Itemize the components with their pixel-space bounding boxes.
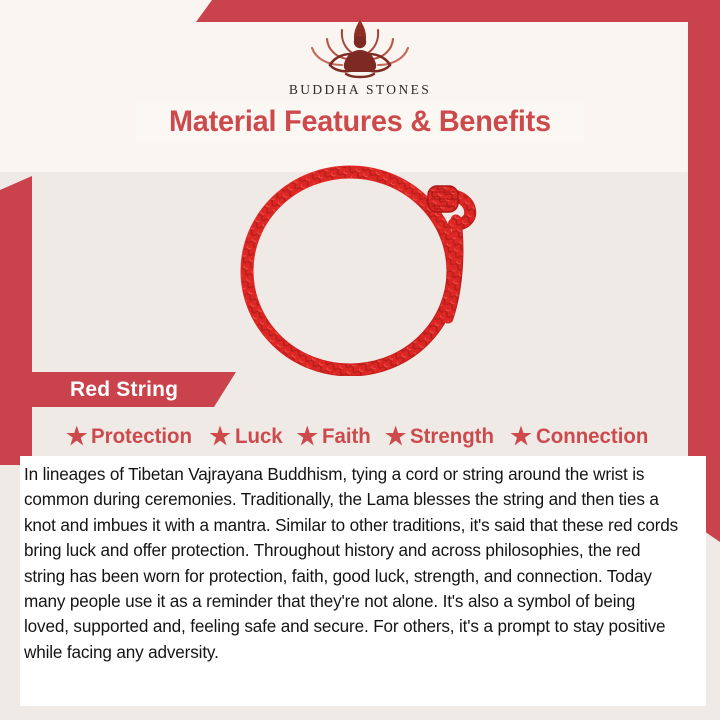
product-name-ribbon: Red String	[20, 372, 236, 407]
star-icon	[297, 426, 318, 447]
benefit-label: Strength	[410, 424, 494, 449]
brand-logo: BUDDHA STONES	[0, 14, 720, 98]
benefit-item: Connection	[506, 424, 659, 449]
benefit-label: Faith	[322, 424, 371, 449]
benefit-item: Strength	[380, 424, 503, 449]
product-image-red-string-bracelet	[232, 158, 494, 376]
description-text: In lineages of Tibetan Vajrayana Buddhis…	[24, 462, 684, 665]
page-title: Material Features & Benefits	[169, 105, 551, 139]
brand-name: BUDDHA STONES	[0, 82, 720, 98]
description-panel: In lineages of Tibetan Vajrayana Buddhis…	[20, 456, 706, 706]
benefit-item: Protection	[61, 424, 202, 449]
star-icon	[385, 426, 406, 447]
decorative-bar-left	[0, 176, 32, 465]
benefit-item: Faith	[292, 424, 378, 449]
benefit-item: Luck	[205, 424, 290, 449]
lotus-meditation-icon	[294, 14, 426, 80]
benefit-label: Connection	[536, 424, 648, 449]
star-icon	[511, 426, 532, 447]
page-title-strip: Material Features & Benefits	[136, 101, 584, 143]
infographic-page: BUDDHA STONES Material Features & Benefi…	[0, 0, 720, 720]
benefits-row: Protection Luck Faith Strength Connectio…	[32, 420, 688, 452]
product-name-label: Red String	[70, 378, 178, 402]
star-icon	[66, 426, 87, 447]
star-icon	[210, 426, 231, 447]
benefit-label: Luck	[235, 424, 283, 449]
benefit-label: Protection	[91, 424, 192, 449]
